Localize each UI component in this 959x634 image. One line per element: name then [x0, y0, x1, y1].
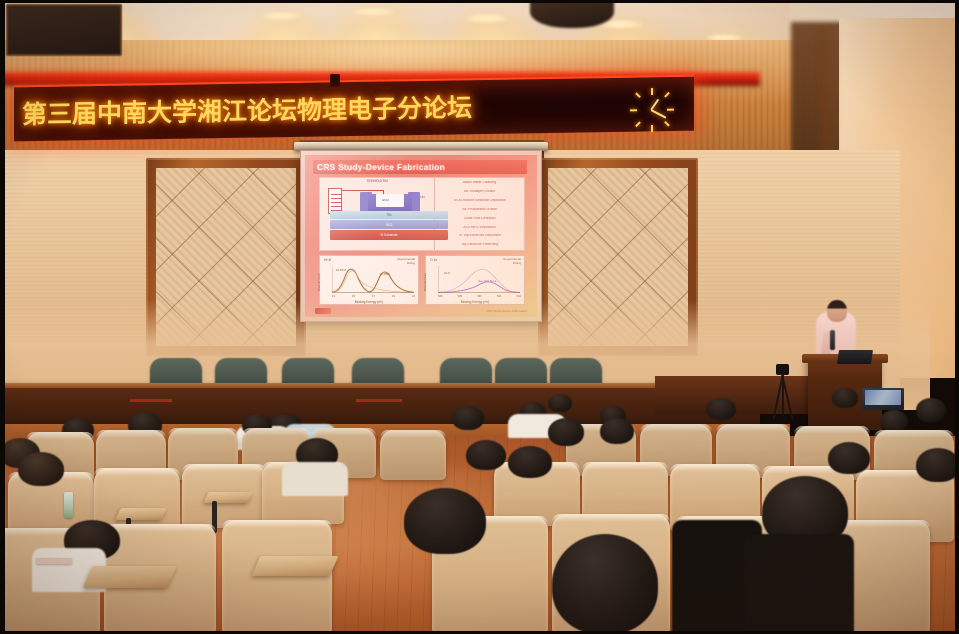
seat-rim [794, 426, 870, 434]
podium-laptop-icon [837, 350, 873, 364]
seat-rim [716, 424, 790, 432]
xtick: 17 [372, 295, 375, 298]
peak-label: Non-HfO Bond [478, 279, 496, 283]
xtick: 13 [332, 295, 335, 298]
tripod-leg [782, 374, 784, 416]
chart-legend: Experimental Fitting [397, 258, 415, 266]
downlight-4 [466, 14, 508, 23]
process-step: Top Electrode Patterning [437, 243, 522, 247]
audience-head [880, 410, 908, 432]
process-step: TE Top Electrode Deposition [437, 234, 522, 238]
seat-rim [380, 430, 446, 438]
seat-rim [640, 424, 712, 432]
speaker-head [827, 300, 847, 322]
stage-side-table [655, 376, 830, 414]
chart-xticks: 526 528 530 532 534 [438, 295, 521, 298]
audience-head [18, 452, 64, 486]
seat-rim [168, 428, 238, 436]
chart-legend: Experimental Fitting [503, 258, 521, 266]
peak-label: Hf 4f7/2 [336, 268, 346, 272]
layer-annotation-tin: TiN [420, 195, 425, 199]
photo-border-right [955, 0, 959, 634]
process-step: Blank Wafer Cleaning [437, 181, 522, 185]
xps-chart-o1s: O 1s Experimental Fitting Intensity (a.u… [425, 255, 525, 305]
probe-wire [342, 190, 384, 191]
process-step: BE Sublayer Growth [437, 190, 522, 194]
seat-rim [874, 430, 954, 438]
seat[interactable] [380, 430, 446, 480]
chart-xticks: 13 15 17 19 21 [332, 295, 415, 298]
chart-ylabel: Intensity (a.u.) [423, 273, 427, 291]
desk-red-stripe [130, 399, 172, 402]
seat-rim [242, 428, 310, 436]
chart-plot-area: Hf 4f7/2 Hf 4f5/2 [332, 266, 414, 293]
handout-paper[interactable] [36, 558, 72, 564]
audience-head [548, 394, 572, 412]
xtick: 526 [438, 295, 442, 298]
projection-screen: CRS Study-Device Fabrication TiN/HfO2/Ti… [300, 150, 542, 322]
device-cross-section-figure: TiN/HfO2/TiN HfO2 TiN [320, 178, 434, 250]
seat-rim [96, 430, 166, 438]
seat-writing-tablet[interactable] [252, 556, 339, 576]
audience-head [452, 406, 484, 430]
led-banner: 第三届中南大学湘江论坛物理电子分论坛 [0, 72, 760, 142]
audience-head [828, 442, 870, 474]
banner-clock-icon [628, 86, 676, 135]
process-step: TEOS Bottom Electrode Deposition [437, 199, 522, 203]
audience-head [600, 418, 634, 444]
stage-panel-desk [0, 383, 760, 429]
peak-label: Hf 4f5/2 [380, 272, 390, 276]
layer-si-substrate-label: Si Substrate [330, 230, 448, 240]
seat-rim [312, 428, 376, 436]
xtick: 532 [497, 295, 501, 298]
water-bottle[interactable] [64, 492, 73, 518]
seat-writing-tablet[interactable] [203, 492, 252, 503]
audience-shirt [282, 462, 348, 496]
audience-shirt [744, 534, 854, 634]
xps-chart-hf4f: Hf 4f Experimental Fitting Intensity (a.… [319, 255, 419, 305]
chart-ylabel: Intensity (a.u.) [317, 273, 321, 291]
figure-caption: TiN/HfO2/TiN [366, 179, 387, 183]
seat-rim [670, 464, 760, 472]
seat-rim [104, 524, 216, 532]
seat-rim [552, 514, 670, 522]
layer-annotation-hfo2: HfO2 [382, 198, 389, 202]
downlight-2 [262, 12, 300, 20]
xtick: 21 [412, 295, 415, 298]
slide-title: CRS Study-Device Fabrication [317, 160, 445, 174]
seat-rim [222, 520, 332, 528]
chart-plot-area: Hf-O Non-HfO Bond [438, 266, 520, 293]
xtick: 19 [392, 295, 395, 298]
photo-border-top [0, 0, 959, 3]
process-step: BE Photoresist Growth [437, 208, 522, 212]
xtick: 15 [352, 295, 355, 298]
process-step: ALD HfO2 Deposition [437, 226, 522, 230]
audience-head [916, 448, 959, 482]
audience-head [832, 388, 858, 408]
audience-laptop-screen [865, 390, 901, 405]
seat[interactable] [222, 520, 332, 634]
seat-rim [582, 462, 668, 470]
legend-entry: Fitting [503, 262, 521, 266]
stage-desk-top-edge [0, 383, 760, 388]
xtick: 528 [458, 295, 462, 298]
banner-camera-dot [330, 74, 340, 87]
seat-writing-tablet[interactable] [115, 508, 167, 520]
chart-title: O 1s [430, 258, 437, 262]
xtick: 530 [477, 295, 481, 298]
wall-speaker-box [6, 4, 122, 56]
microphone-icon [830, 330, 835, 350]
layer-sio2-label: SiO2 [330, 220, 448, 229]
presentation-slide: CRS Study-Device Fabrication TiN/HfO2/Ti… [305, 155, 537, 317]
photo-border-left [0, 0, 5, 634]
process-step: Oxide Hole Definition [437, 217, 522, 221]
audience-head [548, 418, 584, 446]
audience-head [916, 398, 946, 422]
audience-head [404, 488, 486, 554]
auditorium-photo: 第三届中南大学湘江论坛物理电子分论坛 CRS Study-Device Fabr… [0, 0, 959, 634]
audience-head [552, 534, 658, 634]
seat-rim [94, 468, 180, 476]
banner-title-text: 第三届中南大学湘江论坛物理电子分论坛 [22, 84, 552, 134]
ceiling-projector-icon [530, 0, 614, 28]
peak-label: Hf-O [444, 271, 450, 275]
legend-entry: Fitting [397, 262, 415, 266]
xtick: 534 [517, 295, 521, 298]
audience-head [466, 440, 506, 470]
slide-upper-body: TiN/HfO2/TiN HfO2 TiN [319, 177, 525, 251]
seat-rim [182, 464, 266, 472]
layer-tin-label: TiN [330, 211, 448, 219]
downlight-3 [352, 8, 394, 16]
trench-void [376, 194, 404, 207]
seat-rim [26, 432, 94, 440]
seat-writing-tablet[interactable] [83, 566, 177, 588]
chart-title: Hf 4f [324, 258, 331, 262]
audience-head [508, 446, 552, 478]
desk-red-stripe [356, 399, 402, 402]
audience-head [706, 398, 736, 420]
